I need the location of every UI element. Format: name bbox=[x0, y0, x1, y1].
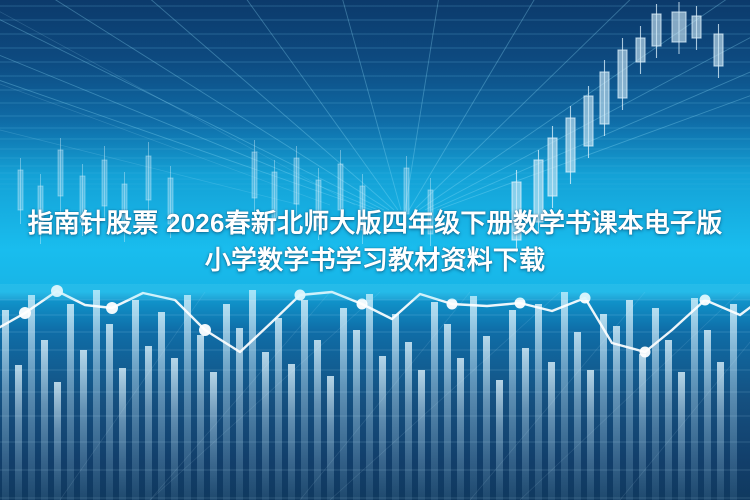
horizon-glow bbox=[0, 284, 750, 300]
candle bbox=[272, 160, 277, 232]
stock-banner-image: 指南针股票 2026春新北师大版四年级下册数学书课本电子版 小学数学书学习教材资… bbox=[0, 0, 750, 500]
candlestick-series-mid bbox=[18, 138, 433, 246]
candle bbox=[38, 174, 43, 244]
candle bbox=[636, 26, 645, 74]
candle bbox=[146, 142, 151, 216]
candle bbox=[672, 2, 686, 54]
candle bbox=[404, 156, 409, 228]
candle bbox=[566, 106, 575, 184]
candle bbox=[428, 178, 433, 246]
candle bbox=[252, 140, 257, 212]
candle bbox=[122, 172, 127, 242]
perspective-grid-upper bbox=[0, 0, 750, 210]
candle bbox=[338, 150, 343, 224]
candle bbox=[512, 170, 521, 252]
candle bbox=[584, 86, 593, 158]
candle bbox=[714, 24, 723, 78]
candle bbox=[548, 126, 557, 208]
candle bbox=[294, 146, 299, 218]
candle bbox=[80, 164, 85, 236]
candle bbox=[18, 158, 23, 224]
candle bbox=[534, 150, 543, 234]
candle bbox=[168, 166, 173, 238]
candle bbox=[618, 38, 627, 110]
chart-graphics-layer bbox=[0, 0, 750, 500]
candle bbox=[102, 146, 107, 220]
candle bbox=[692, 6, 701, 50]
volume-bars bbox=[2, 290, 737, 500]
candle bbox=[600, 60, 609, 136]
candlestick-series-upper-right bbox=[512, 2, 723, 252]
